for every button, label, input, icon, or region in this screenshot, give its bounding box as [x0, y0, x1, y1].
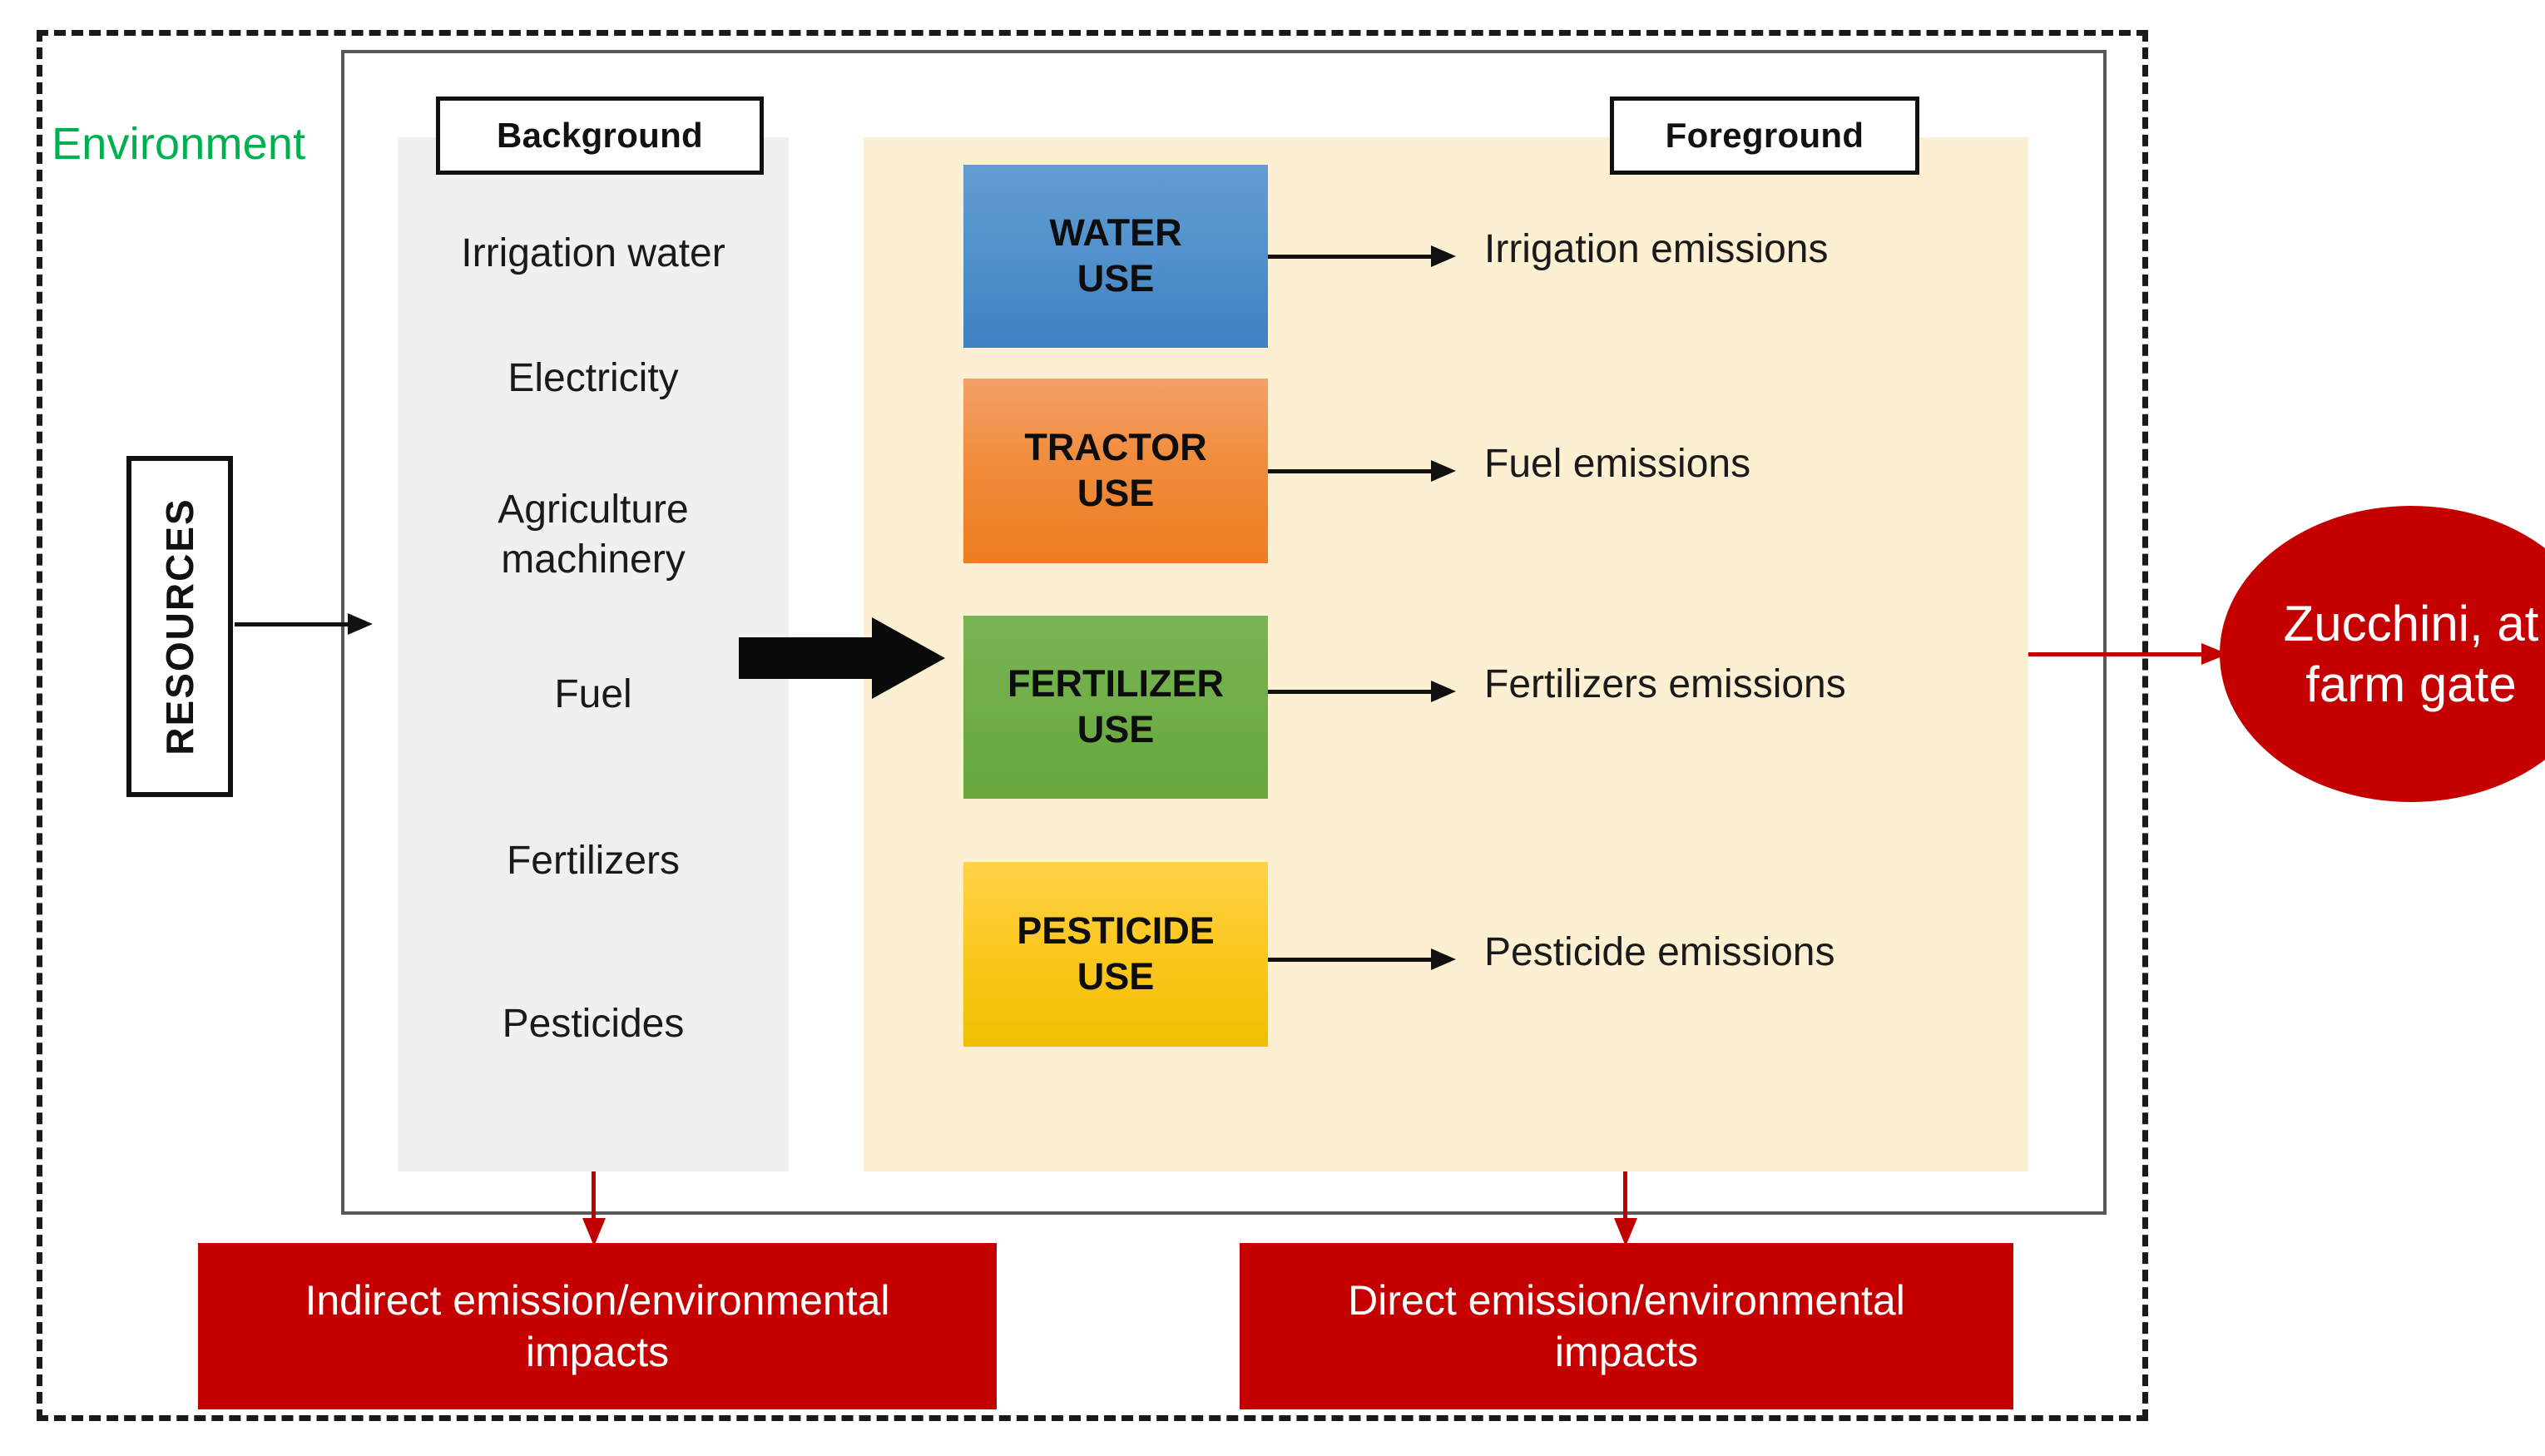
background-to-foreground-block-arrow	[739, 617, 945, 699]
process-box-tractor-use[interactable]: TRACTOR USE	[963, 379, 1268, 563]
arrow-background-to-indirect-impacts	[582, 1171, 606, 1246]
emission-label-fuel: Fuel emissions	[1484, 441, 1750, 487]
impact-box-indirect[interactable]: Indirect emission/environmental impacts	[198, 1243, 997, 1409]
impact-indirect-line2: impacts	[526, 1329, 669, 1375]
process-box-fertilizer-use[interactable]: FERTILIZER USE	[963, 616, 1268, 799]
arrow-shaft	[592, 1171, 596, 1220]
process-label-line1: FERTILIZER	[1008, 661, 1224, 707]
process-label-line1: TRACTOR	[1024, 425, 1206, 471]
process-label-line2: USE	[1077, 707, 1155, 753]
process-label-line2: USE	[1077, 256, 1155, 302]
foreground-title-box: Foreground	[1610, 97, 1919, 175]
resources-box: RESOURCES	[126, 456, 233, 797]
resources-label: RESOURCES	[157, 498, 202, 755]
arrow-foreground-to-product	[2028, 643, 2228, 665]
background-item-agriculture-machinery-line1: Agriculture	[398, 488, 789, 532]
background-item-irrigation-water: Irrigation water	[398, 231, 789, 276]
diagram-canvas: Environment Background Foreground Irriga…	[0, 0, 2545, 1456]
product-oval-zucchini-at-farm-gate[interactable]: Zucchini, at farm gate	[2220, 506, 2545, 802]
emission-label-fertilizers: Fertilizers emissions	[1484, 661, 1846, 707]
product-label-line1: Zucchini, at	[2284, 596, 2539, 651]
arrow-head	[1614, 1218, 1637, 1246]
background-title-box: Background	[436, 97, 764, 175]
arrow-foreground-to-direct-impacts	[1614, 1171, 1637, 1246]
process-box-water-use[interactable]: WATER USE	[963, 165, 1268, 348]
impact-direct-line1: Direct emission/environmental	[1348, 1277, 1905, 1324]
emission-label-irrigation: Irrigation emissions	[1484, 226, 1828, 272]
arrow-head	[582, 1218, 606, 1246]
arrow-shaft	[1623, 1171, 1627, 1220]
emission-label-pesticide: Pesticide emissions	[1484, 929, 1835, 975]
impact-indirect-line1: Indirect emission/environmental	[305, 1277, 889, 1324]
process-label-line1: PESTICIDE	[1017, 909, 1215, 954]
impact-box-direct[interactable]: Direct emission/environmental impacts	[1240, 1243, 2013, 1409]
impact-direct-line2: impacts	[1555, 1329, 1698, 1375]
background-item-electricity: Electricity	[398, 356, 789, 401]
background-item-fuel: Fuel	[398, 672, 789, 717]
arrow-shaft	[2028, 652, 2205, 656]
product-label-line2: farm gate	[2305, 656, 2516, 712]
process-label-line1: WATER	[1049, 210, 1181, 256]
process-box-pesticide-use[interactable]: PESTICIDE USE	[963, 862, 1268, 1047]
environment-label: Environment	[52, 118, 305, 170]
process-label-line2: USE	[1077, 471, 1155, 517]
background-item-agriculture-machinery-line2: machinery	[398, 537, 789, 582]
process-label-line2: USE	[1077, 954, 1155, 1000]
background-item-pesticides: Pesticides	[398, 1002, 789, 1047]
background-item-fertilizers: Fertilizers	[398, 839, 789, 884]
